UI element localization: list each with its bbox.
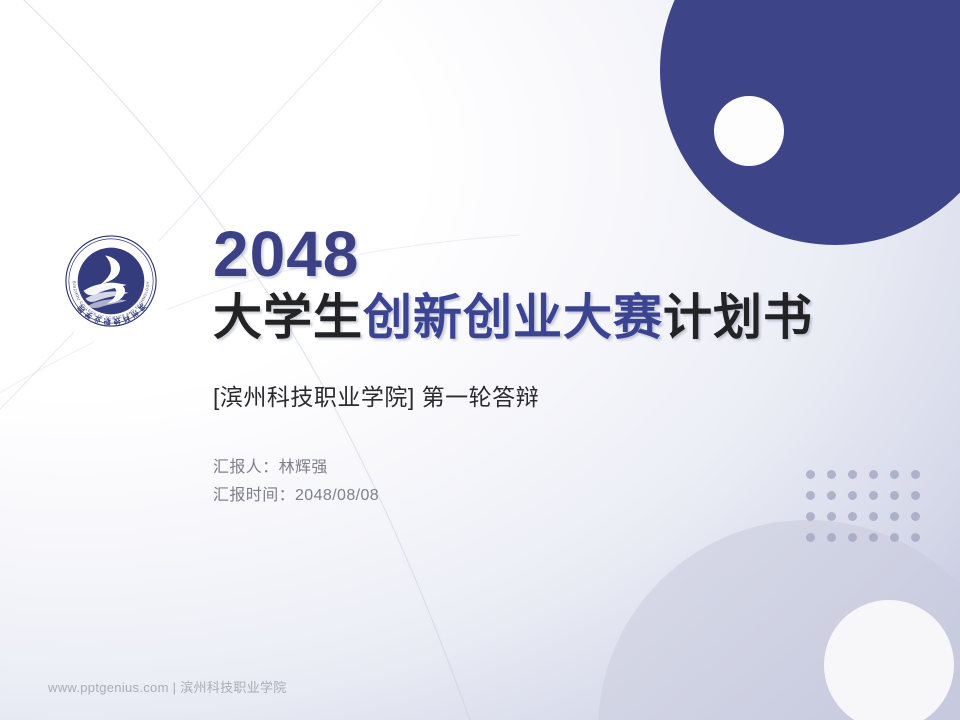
slide-metadata: 汇报人：林辉强 汇报时间：2048/08/08 (213, 454, 913, 510)
headline-segment-end: 计划书 (663, 291, 813, 345)
date-line: 汇报时间：2048/08/08 (213, 482, 913, 510)
slide-footer: www.pptgenius.com | 滨州科技职业学院 (48, 677, 287, 696)
title-text-block: 2048 大学生创新创业大赛计划书 [滨州科技职业学院] 第一轮答辩 汇报人：林… (213, 222, 913, 510)
decorative-circle-white-top (714, 96, 784, 166)
presentation-slide: 滨州科技职业学院 BINZHOU COLLEGE OF SCIENCE AND … (0, 0, 960, 720)
headline-segment-start: 大学生 (213, 291, 363, 345)
college-emblem-icon: 滨州科技职业学院 BINZHOU COLLEGE OF SCIENCE AND … (62, 232, 160, 330)
slide-year: 2048 (213, 222, 913, 286)
presenter-line: 汇报人：林辉强 (213, 454, 913, 482)
decorative-circle-white-bottom (824, 600, 954, 720)
headline-segment-highlight: 创新创业大赛 (363, 291, 663, 345)
institution-logo: 滨州科技职业学院 BINZHOU COLLEGE OF SCIENCE AND … (48, 218, 174, 344)
slide-headline: 大学生创新创业大赛计划书 (213, 292, 913, 346)
slide-subtitle: [滨州科技职业学院] 第一轮答辩 (213, 378, 913, 412)
